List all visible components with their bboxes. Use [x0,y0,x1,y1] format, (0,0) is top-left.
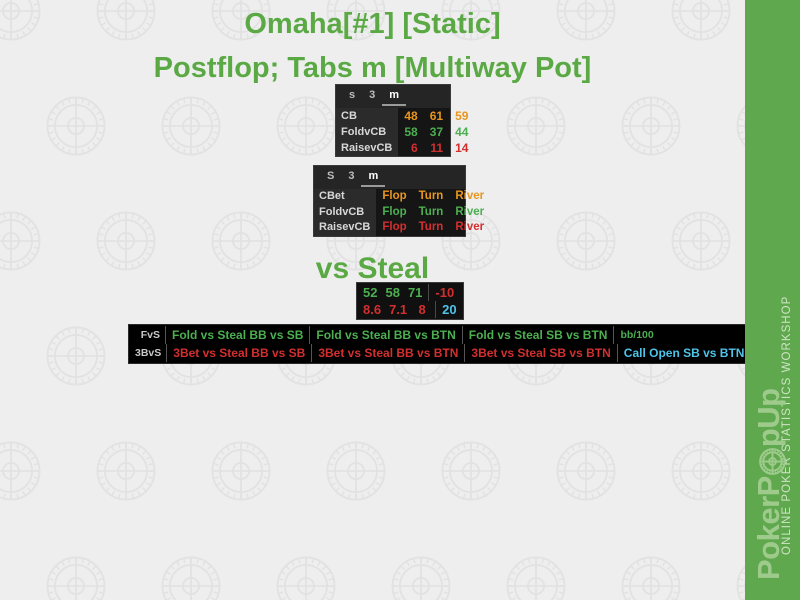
watermark-chip-icon [390,555,452,600]
column-divider [435,301,436,318]
legend-bar: FvS Fold vs Steal BB vs SB Fold vs Steal… [128,324,751,364]
legend-cell: Fold vs Steal BB vs SB [165,326,309,344]
legend-cell: 3Bet vs Steal BB vs SB [166,344,311,362]
cell-value: Flop [376,189,412,205]
hud-cbet-tabbar: s 3 m [336,85,450,108]
brand-text-prefix: PokerP [751,476,787,580]
page-title-line1: Omaha[#1] [Static] [0,8,745,41]
table-row: CBet Flop Turn River [314,189,490,205]
watermark-chip-icon [620,95,682,157]
tab-s[interactable]: s [342,88,362,106]
watermark-chip-icon [160,555,222,600]
row-label: FoldvCB [314,205,376,221]
sidebar-brand: PokerP pUp [751,388,787,580]
section-heading-vs-steal: vs Steal [0,252,745,286]
screenshot-root: Omaha[#1] [Static] Postflop; Tabs m [Mul… [0,0,800,600]
watermark-chip-icon [210,440,272,502]
cell-value: Turn [413,189,450,205]
hud-cbet-table: CB 48 61 59 FoldvCB 58 37 44 RaisevCB 6 … [336,108,474,156]
cell-value: 58 [398,124,423,140]
watermark-chip-icon [670,440,732,502]
watermark-chip-icon [275,95,337,157]
legend-key-fvs: FvS [129,326,165,344]
legend-row-fvs: FvS Fold vs Steal BB vs SB Fold vs Steal… [129,326,750,344]
watermark-chip-icon [45,95,107,157]
watermark-chip-icon [0,440,42,502]
watermark-chip-icon [505,555,567,600]
legend-cell-call-open: Call Open SB vs BTN [617,344,751,362]
hud-popup-vs-steal-values: 52 58 71 -10 8.6 7.1 8 20 [356,282,464,320]
table-row: RaisevCB 6 11 14 [336,140,474,156]
table-row: FoldvCB Flop Turn River [314,205,490,221]
row-label: CBet [314,189,376,205]
cell-value-call-open: 20 [438,301,460,318]
watermark-chip-icon [620,555,682,600]
tab-3[interactable]: 3 [341,169,361,187]
cell-value: 8 [411,301,433,318]
row-label: CB [336,108,398,124]
tab-m[interactable]: m [361,169,385,187]
watermark-chip-icon [160,95,222,157]
cell-value: River [449,205,490,221]
hud-popup-street-legend: S 3 m CBet Flop Turn River FoldvCB Flop … [313,165,466,237]
legend-cell: Fold vs Steal BB vs BTN [309,326,461,344]
legend-key-3bvs: 3BvS [129,344,166,362]
cell-value: 14 [449,140,474,156]
cell-value: 11 [424,140,449,156]
row-label: FoldvCB [336,124,398,140]
brand-sidebar: ONLINE POKER STATISTICS WORKSHOP PokerP … [745,0,800,600]
legend-cell: Fold vs Steal SB vs BTN [462,326,614,344]
hud-popup-cbet-stats: s 3 m CB 48 61 59 FoldvCB 58 37 44 Raise… [335,84,451,157]
table-row: CB 48 61 59 [336,108,474,124]
cell-value: Flop [376,220,412,236]
cell-value: Flop [376,205,412,221]
cell-value-bb100: -10 [431,284,458,301]
watermark-chip-icon [95,440,157,502]
hud-streets-tabbar: S 3 m [314,166,465,189]
watermark-chip-icon [45,555,107,600]
tab-s[interactable]: S [320,169,341,187]
legend-cell: 3Bet vs Steal BB vs BTN [311,344,464,362]
hud-streets-table: CBet Flop Turn River FoldvCB Flop Turn R… [314,189,490,236]
cell-value: 71 [404,284,426,301]
row-label: RaisevCB [336,140,398,156]
page-title-line2: Postflop; Tabs m [Multiway Pot] [0,52,745,85]
watermark-chip-icon [505,95,567,157]
table-row: FoldvCB 58 37 44 [336,124,474,140]
cell-value: Turn [413,205,450,221]
legend-cell: 3Bet vs Steal SB vs BTN [464,344,616,362]
cell-value: 44 [449,124,474,140]
table-row: RaisevCB Flop Turn River [314,220,490,236]
cell-value: 61 [424,108,449,124]
cell-value: 6 [398,140,423,156]
brand-text-suffix: pUp [751,388,787,447]
watermark-chip-icon [275,555,337,600]
watermark-chip-icon [555,440,617,502]
cell-value: River [449,220,490,236]
legend-row-3bvs: 3BvS 3Bet vs Steal BB vs SB 3Bet vs Stea… [129,344,750,362]
tab-3[interactable]: 3 [362,88,382,106]
column-divider [428,284,429,301]
cell-value: 48 [398,108,423,124]
row-label: RaisevCB [314,220,376,236]
watermark-chip-icon [45,325,107,387]
cell-value: 37 [424,124,449,140]
cell-value: River [449,189,490,205]
cell-value: Turn [413,220,450,236]
tab-m[interactable]: m [382,88,406,106]
watermark-chip-icon [325,440,387,502]
poker-chip-icon [758,448,785,475]
cell-value: 58 [381,284,403,301]
steal-top-row: 52 58 71 -10 [359,284,461,301]
cell-value: 52 [359,284,381,301]
steal-bottom-row: 8.6 7.1 8 20 [359,301,461,318]
cell-value: 8.6 [359,301,385,318]
cell-value: 7.1 [385,301,411,318]
watermark-chip-icon [440,440,502,502]
cell-value: 59 [449,108,474,124]
legend-cell-bb100: bb/100 [613,326,659,344]
